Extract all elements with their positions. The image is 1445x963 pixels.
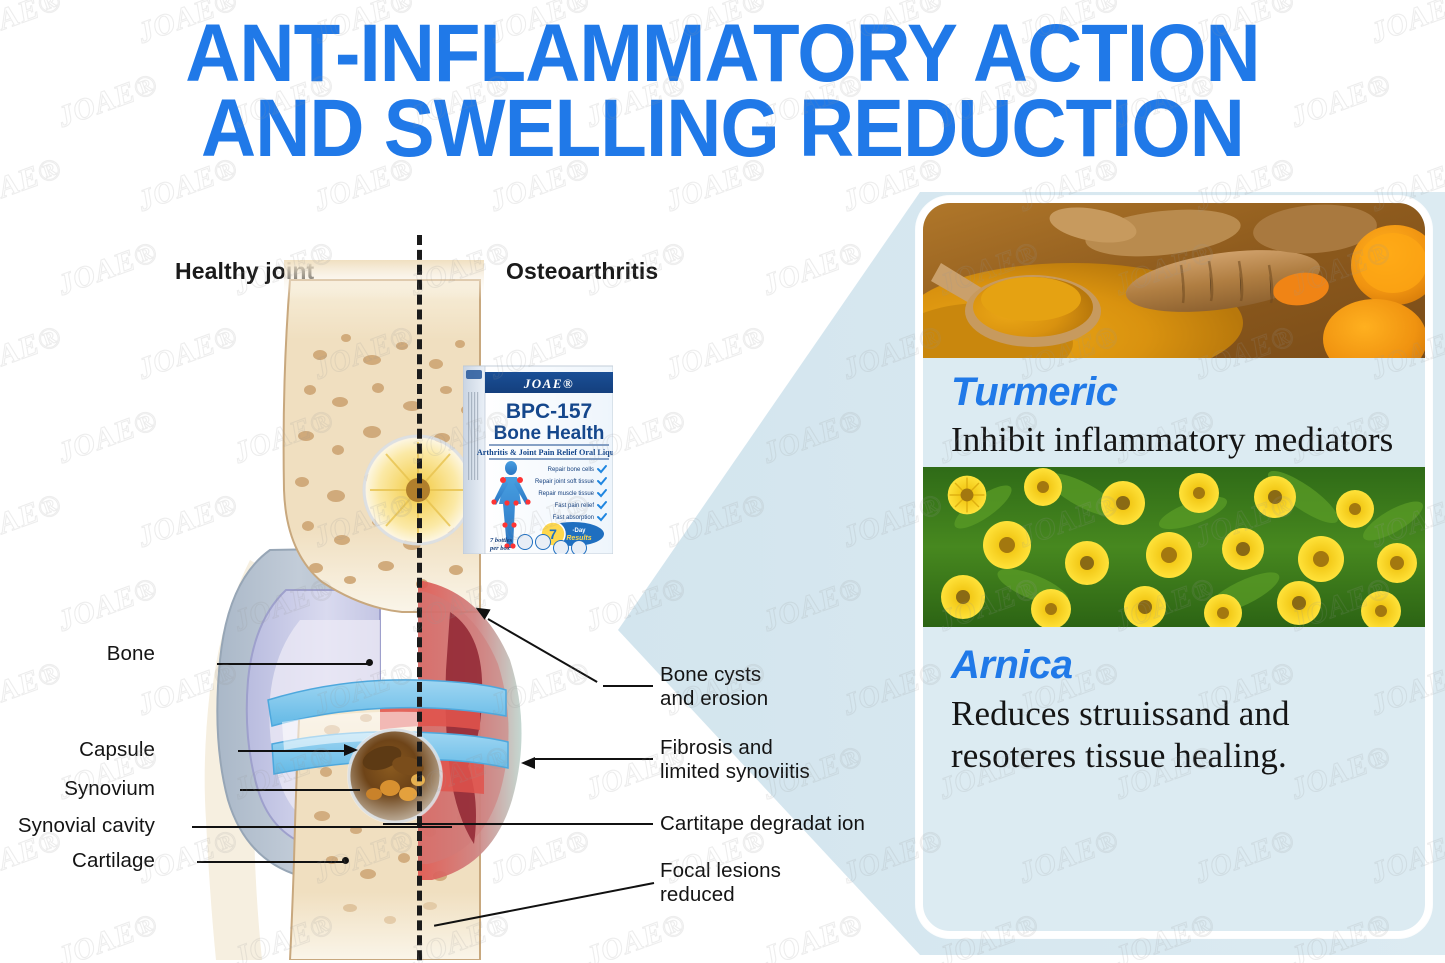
label-bone-cysts-line1: Bone cysts	[660, 663, 768, 687]
label-cartilage: Cartilage	[72, 849, 155, 873]
leader-bone	[217, 663, 369, 665]
label-focal-lesions-line2: reduced	[660, 883, 781, 907]
product-subtitle: Bone Health	[494, 423, 605, 444]
turmeric-inset	[347, 728, 443, 824]
leader-cartilage-degradation	[383, 823, 653, 825]
product-benefit-0: Repair bone cells	[548, 467, 594, 473]
label-fibrosis-line2: limited synoviitis	[660, 760, 810, 784]
leader-fibrosis	[533, 758, 653, 760]
herb-info-card: Turmeric Inhibit inflammatory mediators	[916, 196, 1432, 938]
label-focal-lesions: Focal lesions reduced	[660, 859, 781, 907]
turmeric-section: Turmeric Inhibit inflammatory mediators	[923, 358, 1425, 467]
product-benefit-3: Fast pain relief	[555, 503, 595, 509]
product-footer-line2: per box	[489, 545, 511, 552]
dashed-divider	[417, 235, 422, 963]
label-bone-cysts-line2: and erosion	[660, 687, 768, 711]
product-box[interactable]: JOAE® BPC-157 Bone Health Arthritis & Jo…	[463, 362, 613, 554]
label-capsule: Capsule	[79, 738, 155, 762]
arnica-title: Arnica	[951, 645, 1397, 685]
turmeric-photo	[923, 203, 1425, 358]
leader-dot-cartilage	[342, 857, 349, 864]
product-brand: JOAE®	[523, 376, 574, 391]
page-title: ANT-INFLAMMATORY ACTION AND SWELLING RED…	[51, 16, 1395, 167]
label-bone: Bone	[107, 642, 155, 666]
product-benefit-1: Repair joint soft tissue	[535, 479, 595, 485]
badge-line1: -Day	[572, 528, 586, 534]
label-synovium: Synovium	[64, 777, 155, 801]
label-bone-cysts: Bone cysts and erosion	[660, 663, 768, 711]
title-line-2: AND SWELLING REDUCTION	[51, 91, 1395, 166]
title-line-1: ANT-INFLAMMATORY ACTION	[51, 16, 1395, 91]
label-fibrosis-line1: Fibrosis and	[660, 736, 810, 760]
product-benefit-4: Fast absorption	[553, 515, 594, 521]
turmeric-description: Inhibit inflammatory mediators	[951, 420, 1397, 461]
product-name: BPC-157	[506, 400, 592, 423]
label-focal-lesions-line1: Focal lesions	[660, 859, 781, 883]
leader-dot-bone	[366, 659, 373, 666]
label-fibrosis: Fibrosis and limited synoviitis	[660, 736, 810, 784]
label-cartilage-degradation: Cartitape degradat ion	[660, 812, 865, 836]
arnica-section: Arnica Reduces struıissand and resoteres…	[923, 627, 1425, 783]
leader-synovial-cavity	[192, 826, 452, 828]
leader-cartilage	[197, 861, 345, 863]
leader-synovium	[240, 789, 360, 791]
product-footer-line1: 7 bottles	[490, 537, 513, 544]
infographic-canvas: ANT-INFLAMMATORY ACTION AND SWELLING RED…	[0, 0, 1445, 963]
leader-arrow-fibrosis	[519, 750, 535, 771]
leader-arrow-capsule	[344, 742, 360, 763]
arnica-description: Reduces struıissand and resoteres tissue…	[951, 693, 1397, 777]
product-tagline: Arthritis & Joint Pain Relief Oral Liqui…	[477, 448, 613, 457]
product-benefit-2: Repair muscle tissue	[538, 491, 594, 497]
joint-diagram: Healthy joint Osteoarthritis	[0, 180, 900, 963]
turmeric-title: Turmeric	[951, 372, 1397, 412]
label-synovial-cavity: Synovial cavity	[18, 814, 155, 838]
arnica-photo	[923, 467, 1425, 627]
leader-capsule	[238, 750, 350, 752]
leader-bone-cysts	[603, 685, 653, 687]
